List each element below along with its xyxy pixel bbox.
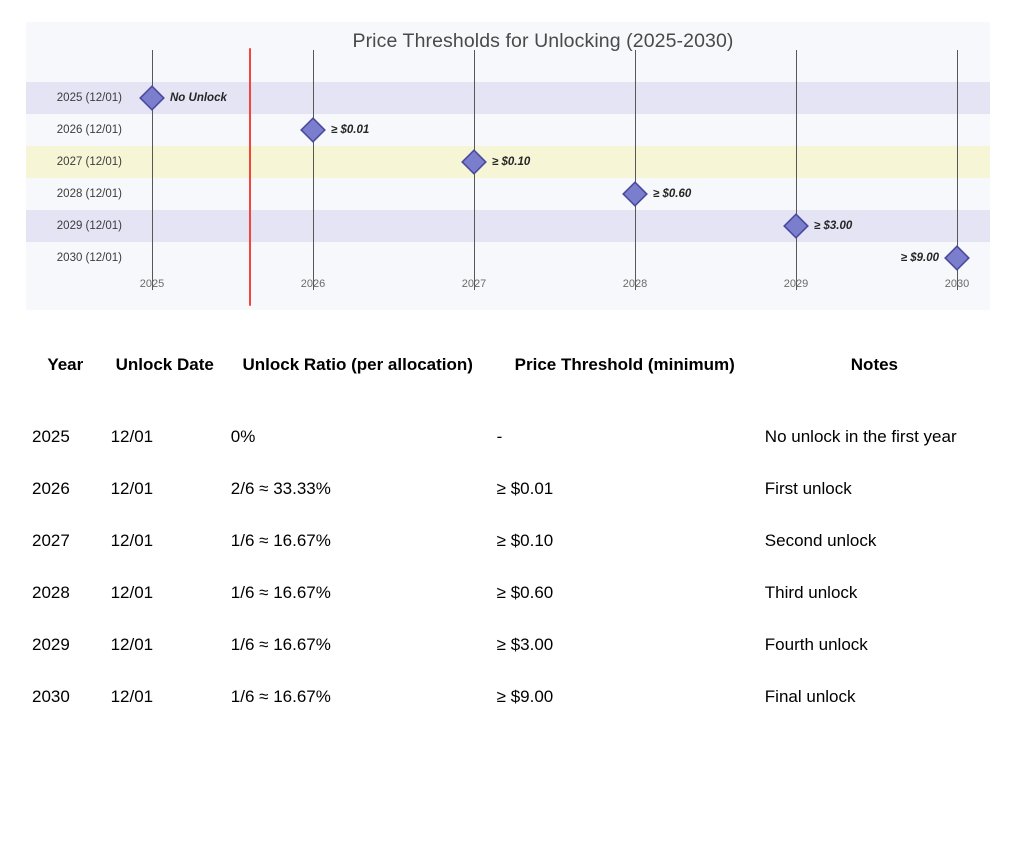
table-row[interactable]: 202512/010%-No unlock in the first year [26,424,990,450]
table-row[interactable]: 202912/011/6 ≈ 16.67%≥ $3.00Fourth unloc… [26,632,990,658]
cell-unlock-ratio: 1/6 ≈ 16.67% [225,632,491,658]
column-header-unlock-date: Unlock Date [105,352,225,378]
y-axis-tick-label: 2028 (12/01) [26,178,122,210]
table-row-spacer [26,450,990,476]
cell-price-threshold: ≥ $9.00 [491,684,759,710]
y-axis-tick-label: 2030 (12/01) [26,242,122,274]
chart-gridline [796,50,797,290]
x-axis-tick-label: 2026 [278,278,348,290]
cell-year: 2026 [26,476,105,502]
chart-row-band [26,114,990,146]
cell-notes: Second unlock [759,528,990,554]
cell-price-threshold: ≥ $0.01 [491,476,759,502]
cell-notes: Third unlock [759,580,990,606]
diamond-marker-icon [783,213,809,239]
table-row[interactable]: 202712/011/6 ≈ 16.67%≥ $0.10Second unloc… [26,528,990,554]
cell-price-threshold: ≥ $3.00 [491,632,759,658]
page-root: 2025 (12/01)2026 (12/01)2027 (12/01)2028… [0,0,1018,848]
cell-notes: No unlock in the first year [759,424,990,450]
table-header-row: Year Unlock Date Unlock Ratio (per alloc… [26,352,990,378]
diamond-marker-icon [944,245,970,271]
cell-unlock-ratio: 1/6 ≈ 16.67% [225,528,491,554]
cell-unlock-ratio: 1/6 ≈ 16.67% [225,580,491,606]
x-axis-tick-label: 2027 [439,278,509,290]
cell-unlock-ratio: 0% [225,424,491,450]
chart-data-point-label: ≥ $0.01 [331,122,369,138]
chart-title: Price Thresholds for Unlocking (2025-203… [26,30,990,53]
chart-data-point-label: ≥ $0.60 [653,186,691,202]
x-axis-tick-label: 2028 [600,278,670,290]
column-header-price-threshold: Price Threshold (minimum) [491,352,759,378]
chart-data-point-label: No Unlock [170,90,227,106]
cell-notes: Final unlock [759,684,990,710]
y-axis-tick-label: 2029 (12/01) [26,210,122,242]
cell-year: 2029 [26,632,105,658]
cell-unlock-date: 12/01 [105,684,225,710]
y-axis-tick-label: 2027 (12/01) [26,146,122,178]
cell-price-threshold: - [491,424,759,450]
column-header-year: Year [26,352,105,378]
column-header-unlock-ratio: Unlock Ratio (per allocation) [225,352,491,378]
chart-data-point-label: ≥ $9.00 [901,250,939,266]
cell-year: 2027 [26,528,105,554]
cell-unlock-date: 12/01 [105,424,225,450]
table-row-spacer [26,378,990,424]
y-axis-tick-label: 2025 (12/01) [26,82,122,114]
chart-row-band [26,178,990,210]
x-axis-tick-label: 2030 [922,278,992,290]
cell-unlock-date: 12/01 [105,476,225,502]
column-header-notes: Notes [759,352,990,378]
x-axis-tick-label: 2029 [761,278,831,290]
cell-unlock-ratio: 1/6 ≈ 16.67% [225,684,491,710]
x-axis-tick-label: 2025 [117,278,187,290]
cell-unlock-date: 12/01 [105,580,225,606]
table-row-spacer [26,606,990,632]
chart-gridline [635,50,636,290]
chart-data-point-label: ≥ $0.10 [492,154,530,170]
diamond-marker-icon [139,85,165,111]
diamond-marker-icon [622,181,648,207]
table-body: 202512/010%-No unlock in the first year2… [26,378,990,710]
cell-year: 2030 [26,684,105,710]
diamond-marker-icon [300,117,326,143]
price-threshold-chart: 2025 (12/01)2026 (12/01)2027 (12/01)2028… [26,22,990,310]
cell-unlock-date: 12/01 [105,528,225,554]
table-row[interactable]: 202812/011/6 ≈ 16.67%≥ $0.60Third unlock [26,580,990,606]
table-row[interactable]: 203012/011/6 ≈ 16.67%≥ $9.00Final unlock [26,684,990,710]
cell-notes: First unlock [759,476,990,502]
cell-unlock-date: 12/01 [105,632,225,658]
chart-data-point-label: ≥ $3.00 [814,218,852,234]
current-date-reference-line [249,48,252,306]
y-axis-tick-label: 2026 (12/01) [26,114,122,146]
table-row[interactable]: 202612/012/6 ≈ 33.33%≥ $0.01First unlock [26,476,990,502]
cell-year: 2025 [26,424,105,450]
table-row-spacer [26,502,990,528]
cell-price-threshold: ≥ $0.60 [491,580,759,606]
chart-plot-area: 2025 (12/01)2026 (12/01)2027 (12/01)2028… [26,22,990,310]
cell-year: 2028 [26,580,105,606]
cell-price-threshold: ≥ $0.10 [491,528,759,554]
chart-gridline [313,50,314,290]
unlock-schedule-table: Year Unlock Date Unlock Ratio (per alloc… [26,352,990,710]
table-row-spacer [26,658,990,684]
table-row-spacer [26,554,990,580]
cell-unlock-ratio: 2/6 ≈ 33.33% [225,476,491,502]
cell-notes: Fourth unlock [759,632,990,658]
diamond-marker-icon [461,149,487,175]
chart-row-band [26,242,990,274]
